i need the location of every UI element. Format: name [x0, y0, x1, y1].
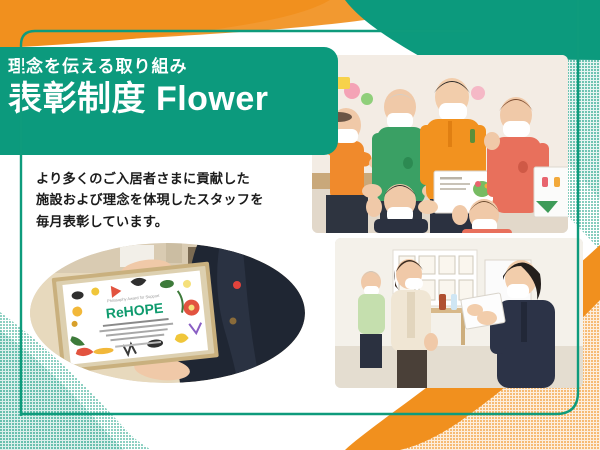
ceremony-photo — [335, 238, 583, 388]
poster-page: Philosophy Award for Support ReHOPE 理念を伝… — [0, 0, 600, 450]
headline-subtitle: 理念を伝える取り組み — [8, 58, 338, 75]
group-photo — [312, 55, 568, 233]
body-line-3: 毎月表彰しています。 — [36, 211, 286, 232]
body-copy: より多くのご入居者さまに貢献した 施設および理念を体現したスタッフを 毎月表彰し… — [36, 168, 286, 232]
headline-title: 表彰制度 Flower — [8, 80, 338, 118]
headline-panel: 理念を伝える取り組み 表彰制度 Flower — [0, 47, 338, 155]
certificate-photo: Philosophy Award for Support ReHOPE — [30, 243, 305, 383]
body-line-2: 施設および理念を体現したスタッフを — [36, 189, 286, 210]
body-line-1: より多くのご入居者さまに貢献した — [36, 168, 286, 189]
